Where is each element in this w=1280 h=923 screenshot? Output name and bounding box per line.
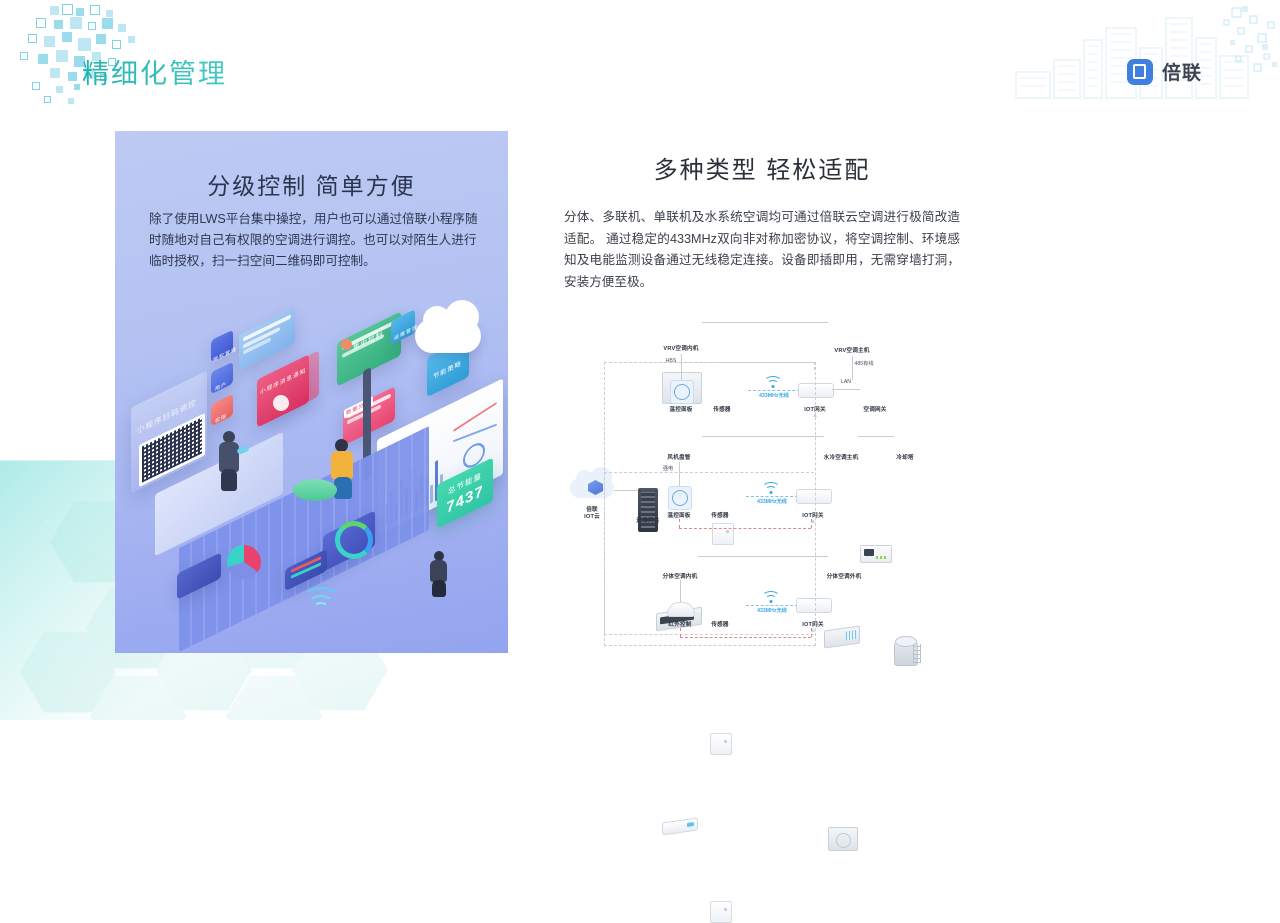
illus-pie-chart (227, 545, 261, 579)
brand-logo: 倍联 (1127, 58, 1202, 85)
wire-vrv-indoor-outdoor (702, 322, 828, 323)
water-cooled-chiller-icon (824, 625, 860, 648)
cloud-label-line2: IOT云 (584, 512, 600, 520)
illus-green-puck (293, 479, 337, 501)
wire-vrv-lan (832, 389, 860, 390)
split-outdoor-label: 分体空调外机 (827, 572, 862, 580)
page-title: 精细化管理 (82, 52, 227, 91)
cooling-tower-label: 冷却塔 (896, 453, 913, 461)
illus-person-left (213, 431, 249, 491)
illus-cloud-icon (415, 319, 481, 353)
wire-vrv-485 (852, 356, 853, 380)
right-column-title: 多种类型 轻松适配 (552, 150, 972, 185)
wire-chiller-tower (858, 436, 894, 437)
vrv-ac-gateway-label: 空调网关 (863, 405, 886, 413)
illus-donut-chart (335, 521, 373, 559)
fancoil-sensor-icon (710, 733, 732, 755)
topology-diagram: 倍联 IOT云 边缘网关 VRV空调内机 VRV空调主机 HBS 485有线 温… (552, 300, 972, 660)
illus-person-right (427, 551, 453, 597)
water-cooled-chiller-label: 水冷空调主机 (824, 453, 859, 461)
split-sensor-icon (710, 901, 732, 923)
left-card-body: 除了使用LWS平台集中操控，用户也可以通过倍联小程序随时随地对自己有权限的空调进… (149, 209, 478, 272)
left-card-title: 分级控制 简单方便 (115, 167, 508, 201)
cooling-tower-icon (894, 636, 916, 664)
square-logo-icon (1127, 59, 1153, 85)
page-header: 精细化管理 倍联 (0, 0, 1280, 110)
diagram-outer-dashed-box (604, 362, 816, 646)
split-indoor-unit-icon (662, 817, 698, 835)
right-column-body: 分体、多联机、单联机及水系统空调均可通过倍联云空调进行极简改造适配。 通过稳定的… (552, 207, 972, 293)
vrv-indoor-label: VRV空调内机 (663, 344, 698, 352)
cloud-cube-icon (588, 480, 603, 495)
vrv-outdoor-label: VRV空调主机 (834, 346, 869, 354)
isometric-illustration: 小程序扫码调控 授权管理 用户 权限 小程序消息通知 集中控制 数据分析 (115, 291, 508, 653)
vrv-outdoor-link-label: 485有线 (854, 360, 873, 367)
left-feature-card: 分级控制 简单方便 除了使用LWS平台集中操控，用户也可以通过倍联小程序随时随地… (115, 131, 508, 653)
illus-chat-bubble-icon (273, 395, 289, 411)
illus-card-blue-wide (239, 307, 295, 370)
vrv-lan-label: LAN (841, 379, 851, 385)
brand-name: 倍联 (1162, 58, 1202, 85)
split-outdoor-unit-icon (828, 827, 858, 851)
illus-avatar (341, 339, 352, 350)
vrv-ac-gateway-icon (860, 545, 892, 563)
illus-wifi-icon (301, 587, 341, 613)
right-feature-column: 多种类型 轻松适配 分体、多联机、单联机及水系统空调均可通过倍联云空调进行极简改… (552, 150, 972, 306)
